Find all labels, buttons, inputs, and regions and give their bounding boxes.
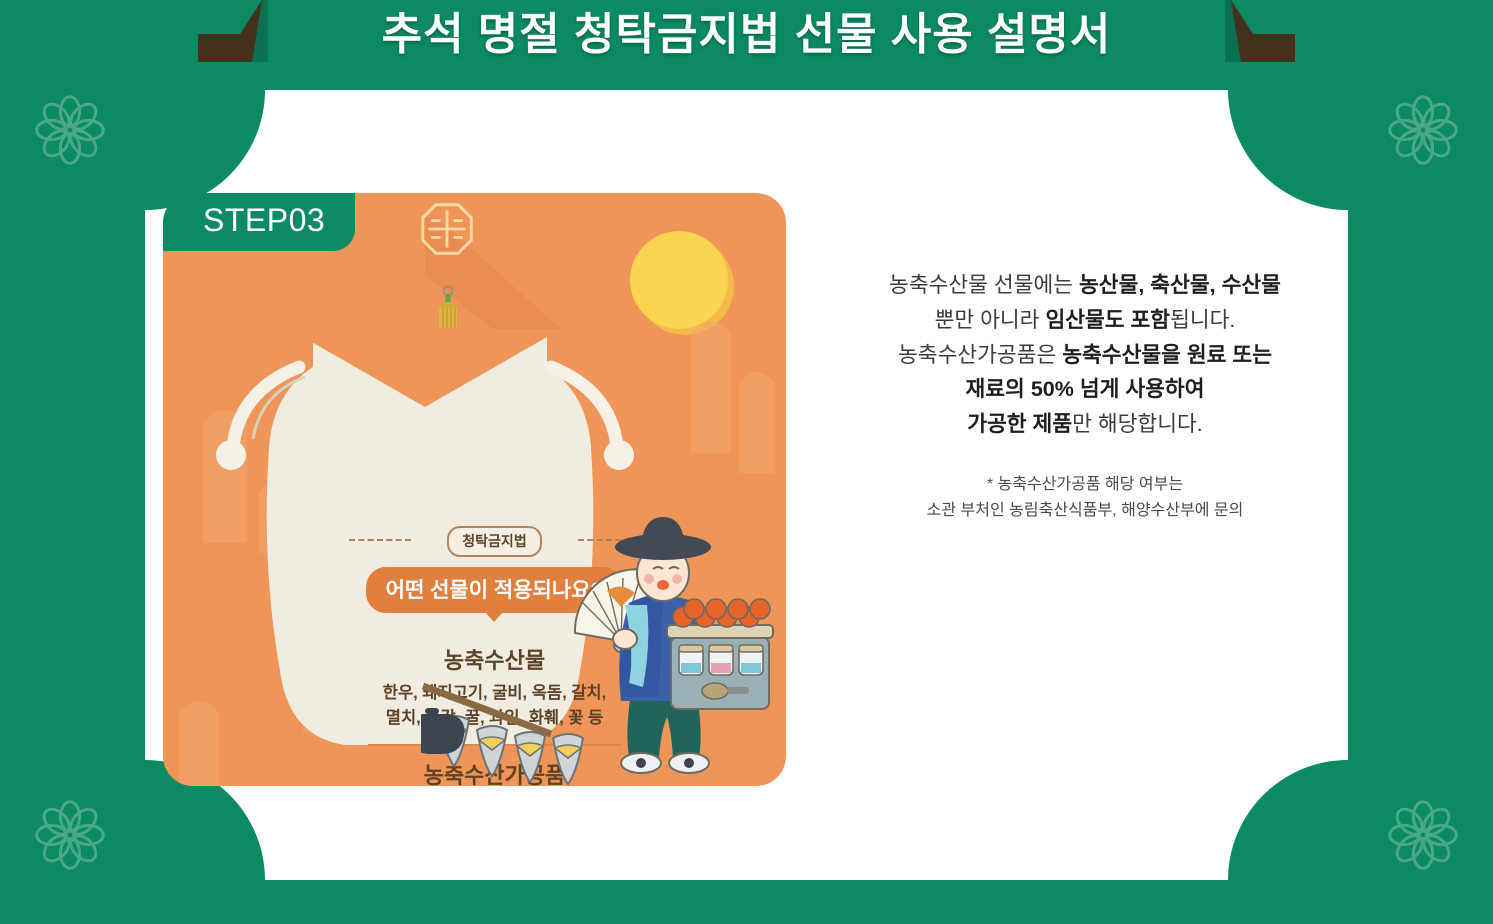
lead-line: 가공한 제품만 해당합니다. [830,407,1340,442]
footnote: * 농축수산가공품 해당 여부는소관 부처인 농림축산식품부, 해양수산부에 문… [830,472,1340,524]
footnote-line: * 농축수산가공품 해당 여부는 [830,472,1340,498]
page-title: 추석 명절 청탁금지법 선물 사용 설명서 [268,0,1225,70]
corner-notch-top-left [145,90,265,210]
lead-line: 농축수산물 선물에는 농산물, 축산물, 수산물 [830,268,1340,303]
lead-paragraph: 농축수산물 선물에는 농산물, 축산물, 수산물뿐만 아니라 임산물도 포함됩니… [830,268,1340,442]
step-illustration-card: 청탁금지법 어떤 선물이 적용되나요? 농축수산물 한우, 돼지고기, 굴비, … [163,193,786,786]
korean-merchant-character [563,511,778,786]
eight-petal-flower-icon [33,798,107,872]
description-column: 농축수산물 선물에는 농산물, 축산물, 수산물뿐만 아니라 임산물도 포함됩니… [830,268,1340,524]
infographic-page: 추석 명절 청탁금지법 선물 사용 설명서 [0,0,1493,924]
norigae-tassel-icon [436,286,460,334]
step-badge: STEP03 [163,193,355,251]
corner-notch-top-right [1228,90,1348,210]
eight-petal-flower-icon [1386,798,1460,872]
eight-petal-flower-icon [1386,93,1460,167]
corner-notch-bottom-right [1228,760,1348,880]
lead-line: 농축수산가공품은 농축수산물을 원료 또는 [830,338,1340,373]
lead-line: 재료의 50% 넘게 사용하여 [830,372,1340,407]
octagon-medallion-icon [419,201,475,257]
footnote-line: 소관 부처인 농림축산식품부, 해양수산부에 문의 [830,498,1340,524]
eight-petal-flower-icon [33,93,107,167]
lead-line: 뿐만 아니라 임산물도 포함됩니다. [830,303,1340,338]
